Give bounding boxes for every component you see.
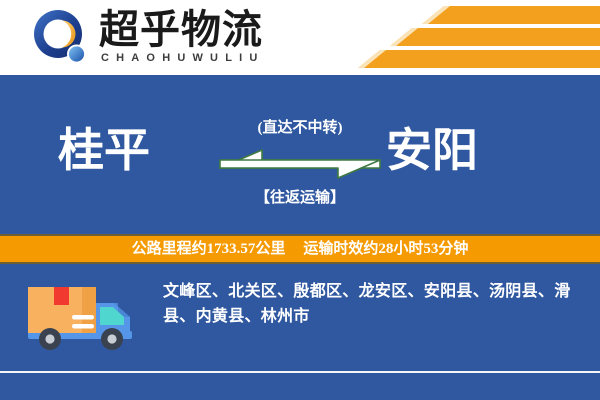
delivery-truck-icon [24, 281, 142, 353]
bidirectional-arrow-icon [218, 146, 382, 182]
duration-text: 运输时效约28小时53分钟 [303, 240, 468, 258]
coverage-districts-list: 文峰区、北关区、殷都区、龙安区、安阳县、汤阴县、滑县、内黄县、林州市 [163, 279, 583, 329]
logistics-route-poster: 超乎物流 CHAOHUWULIU 桂平 安阳 (直达不中转) [0, 0, 600, 400]
brand-name-pinyin: CHAOHUWULIU [101, 52, 265, 64]
brand-name-chinese: 超乎物流 [99, 8, 263, 52]
company-logo-icon [33, 9, 91, 67]
shipping-info-bar: 公路里程约1733.57公里 运输时效约28小时53分钟 [0, 234, 600, 264]
poster-header: 超乎物流 CHAOHUWULIU [0, 0, 600, 75]
round-trip-note: 【往返运输】 [0, 188, 600, 208]
direct-shipping-note: (直达不中转) [0, 118, 600, 138]
distance-text: 公路里程约1733.57公里 [132, 240, 286, 258]
footer-divider [0, 371, 600, 373]
diagonal-stripes-decoration [280, 0, 600, 75]
